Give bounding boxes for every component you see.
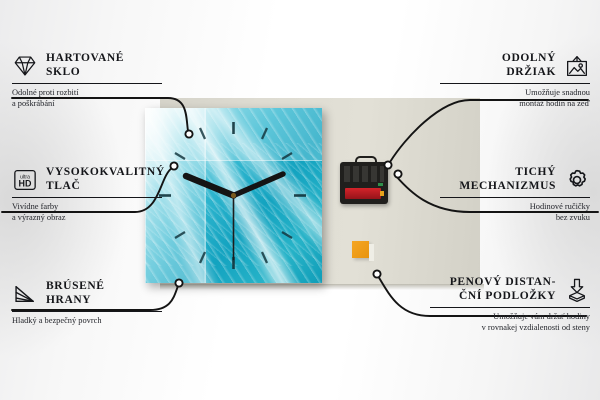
- feature-description: Hladký a bezpečný povrch: [12, 315, 162, 326]
- diagonal-lines-icon: [12, 281, 38, 307]
- feature-tempered-glass: HARTOVANÉ SKLO Odolné proti rozbití a po…: [12, 52, 162, 109]
- clock-mechanism: [340, 162, 388, 204]
- svg-text:HD: HD: [19, 178, 32, 188]
- feature-silent-mechanism: TICHÝ MECHANIZMUS Hodinové ručičky bez z…: [440, 166, 590, 223]
- wall-clock-product: [145, 108, 322, 283]
- feature-high-quality-print: ultra HD VYSOKOKVALITNÝ TLAČ Vivídne far…: [12, 166, 162, 223]
- feature-title: VYSOKOKVALITNÝ TLAČ: [46, 166, 165, 193]
- feature-description: Hodinové ručičky bez zvuku: [440, 201, 590, 223]
- product-scene: [140, 96, 480, 286]
- feature-title: ODOLNÝ DRŽIAK: [502, 52, 556, 79]
- gear-icon: [564, 167, 590, 193]
- divider: [430, 307, 590, 308]
- wall-mount-frame-icon: [564, 53, 590, 79]
- clock-hands-and-ticks: [145, 108, 322, 283]
- infographic-canvas: HARTOVANÉ SKLO Odolné proti rozbití a po…: [0, 0, 600, 400]
- feature-description: Umožňuje snadnou montáž hodin na zeď: [440, 87, 590, 109]
- feature-description: Odolné proti rozbití a poškrábání: [12, 87, 162, 109]
- feature-title: TICHÝ MECHANIZMUS: [459, 166, 556, 193]
- divider: [12, 311, 162, 312]
- divider: [12, 83, 162, 84]
- feature-title: BRÚSENÉ HRANY: [46, 280, 105, 307]
- ultra-hd-icon: ultra HD: [12, 167, 38, 193]
- feature-ground-edges: BRÚSENÉ HRANY Hladký a bezpečný povrch: [12, 280, 162, 326]
- divider: [440, 197, 590, 198]
- feature-title: PENOVÝ DISTAN- ČNÍ PODLOŽKY: [450, 276, 556, 303]
- divider: [440, 83, 590, 84]
- feature-foam-distance-pads: PENOVÝ DISTAN- ČNÍ PODLOŽKY Umožňuje vám…: [430, 276, 590, 333]
- feature-description: Umožňuje vám držať hodiny v rovnakej vzd…: [430, 311, 590, 333]
- feature-title: HARTOVANÉ SKLO: [46, 52, 124, 79]
- foam-distance-pad: [352, 241, 369, 258]
- feature-description: Vivídne farby a výrazný obraz: [12, 201, 162, 223]
- feature-durable-holder: ODOLNÝ DRŽIAK Umožňuje snadnou montáž ho…: [440, 52, 590, 109]
- divider: [12, 197, 162, 198]
- arrow-down-pad-icon: [564, 277, 590, 303]
- battery: [345, 188, 381, 199]
- diamond-icon: [12, 53, 38, 79]
